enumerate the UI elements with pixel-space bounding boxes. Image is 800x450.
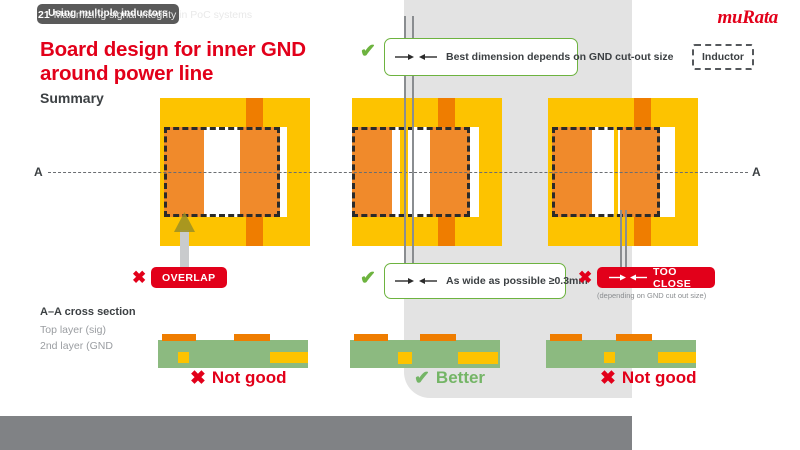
gnd-segment-left [604, 352, 615, 363]
cross-section-diagram-2 [350, 330, 510, 368]
top-layer-pad-right [616, 334, 652, 341]
gnd-segment-left [398, 352, 412, 364]
page-title: Board design for inner GND around power … [40, 38, 370, 86]
dimension-arrows-icon [608, 272, 648, 283]
dimension-leader-right [625, 210, 627, 270]
footer-page-number: 21 [38, 9, 50, 21]
footer-logo-area [632, 416, 800, 450]
callout-best-dimension-text: Best dimension depends on GND cut-out si… [446, 50, 674, 64]
x-icon-overlap: ✖ [132, 269, 146, 286]
x-icon-verdict-1: ✖ [190, 369, 206, 388]
verdict-2: ✔ Better [414, 368, 485, 388]
footer-title: Maximizing signal integrity in PoC syste… [54, 9, 252, 21]
check-icon-verdict-2: ✔ [414, 369, 430, 388]
murata-logo: muRata [718, 7, 779, 29]
check-icon-top-callout: ✔ [360, 42, 376, 61]
x-icon-too-close: ✖ [578, 269, 592, 286]
dimension-arrows-icon [393, 275, 439, 287]
callout-as-wide-as-possible-text: As wide as possible ≥0.3mm [446, 274, 588, 288]
top-layer-pad-left [354, 334, 388, 341]
verdict-1-label: Not good [212, 368, 287, 388]
verdict-3-label: Not good [622, 368, 697, 388]
badge-too-close-label: TOO CLOSE [653, 266, 704, 290]
check-icon-bottom-callout: ✔ [360, 269, 376, 288]
legend-inductor-label: Inductor [702, 51, 744, 63]
verdict-2-label: Better [436, 368, 485, 388]
footer-text: 21Maximizing signal integrity in PoC sys… [38, 9, 252, 21]
badge-overlap: OVERLAP [151, 267, 227, 288]
cross-section-layer-1-label: Top layer (sig) [40, 324, 106, 336]
gnd-segment-left [178, 352, 189, 363]
callout-best-dimension: Best dimension depends on GND cut-out si… [384, 38, 578, 76]
gnd-segment-right [270, 352, 308, 363]
section-line-a-a [48, 172, 748, 173]
top-layer-pad-left [162, 334, 196, 341]
dimension-leader-left [620, 210, 622, 270]
axis-label-right: A [752, 165, 761, 179]
legend-inductor: Inductor [692, 44, 754, 70]
top-layer-pad-right [234, 334, 270, 341]
cross-section-diagram-1 [158, 330, 318, 368]
top-layer-pad-right [420, 334, 456, 341]
gnd-segment-right [458, 352, 498, 364]
section-label: Summary [40, 90, 104, 106]
badge-too-close-note: (depending on GND cut out size) [597, 291, 706, 300]
cross-section-title: A–A cross section [40, 306, 136, 318]
cross-section-diagram-3 [546, 330, 706, 368]
top-layer-pad-left [550, 334, 582, 341]
badge-too-close: TOO CLOSE [597, 267, 715, 288]
x-icon-verdict-3: ✖ [600, 369, 616, 388]
gnd-segment-right [658, 352, 696, 363]
verdict-1: ✖ Not good [190, 368, 287, 388]
verdict-3: ✖ Not good [600, 368, 697, 388]
callout-as-wide-as-possible: As wide as possible ≥0.3mm [384, 263, 566, 299]
axis-label-left: A [34, 165, 43, 179]
dimension-arrows-icon [393, 51, 439, 63]
badge-overlap-label: OVERLAP [162, 272, 216, 284]
cross-section-layer-2-label: 2nd layer (GND [40, 340, 113, 352]
